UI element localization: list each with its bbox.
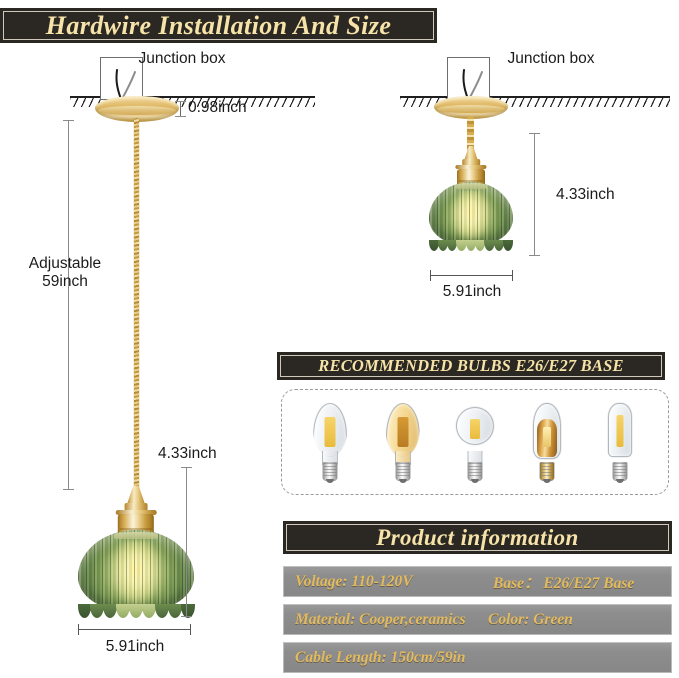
bulb-base-tip — [616, 479, 624, 483]
spec-color: Color: Green — [488, 611, 573, 629]
shade-top-cap — [455, 183, 487, 189]
adjustable-length-label: Adjustable 59inch — [10, 255, 120, 291]
shade-scalloped-edge — [78, 604, 194, 619]
left-lamp-width-label: 5.91inch — [80, 638, 190, 656]
spec-row-material-color: Material: Cooper,ceramics Color: Green — [283, 604, 672, 635]
bulb-base-tip — [471, 479, 479, 483]
right-lamp-width-dimension-line — [430, 275, 513, 276]
socket-cone — [127, 486, 145, 504]
right-lamp-height-dimension-line — [534, 133, 535, 256]
right-lamp-height-label: 4.33inch — [556, 186, 615, 204]
bulb-filament — [470, 419, 480, 439]
wires-icon — [448, 58, 489, 99]
canopy-lip — [437, 105, 505, 113]
spec-base: Base： E26/E27 Base — [493, 571, 634, 593]
bulb-filament — [543, 427, 551, 447]
left-lamp-height-label: 4.33inch — [158, 445, 217, 463]
spec-material: Material: Cooper,ceramics — [295, 611, 466, 629]
junction-box-label-left: Junction box — [136, 50, 228, 67]
bulbs-title-text: RECOMMENDED BULBS E26/E27 BASE — [318, 356, 623, 376]
product-info-title-banner: Product information — [283, 521, 672, 554]
right-lamp-width-label: 5.91inch — [418, 283, 526, 301]
junction-box-label-right: Junction box — [505, 50, 597, 67]
adjustable-dimension-line — [68, 120, 69, 490]
bulb-base-tip — [543, 479, 551, 483]
bulb-list — [282, 390, 668, 494]
infographic-canvas: Hardwire Installation And Size Junction … — [0, 0, 679, 678]
spec-cable-length: Cable Length: 150cm/59in — [295, 649, 466, 667]
main-title-banner: Hardwire Installation And Size — [0, 8, 437, 43]
bulb-filament — [616, 415, 623, 447]
bulbs-title-banner: RECOMMENDED BULBS E26/E27 BASE — [277, 352, 665, 380]
gold-tipped-candle-bulb-icon — [521, 401, 573, 483]
cable-left — [134, 118, 139, 490]
st64-clear-bulb-icon — [304, 401, 356, 483]
shade-ribs — [78, 530, 194, 611]
shade-dome — [78, 530, 194, 611]
shade-scalloped-edge — [429, 240, 513, 252]
left-lamp-width-dimension-line — [78, 629, 191, 630]
glass-shade-right — [429, 182, 513, 254]
main-title-text: Hardwire Installation And Size — [46, 11, 392, 41]
shade-ribs — [429, 182, 513, 245]
glass-shade-left — [78, 530, 194, 622]
bulb-base-tip — [399, 479, 407, 483]
t-tube-bulb-icon — [594, 401, 646, 483]
shade-dome — [429, 182, 513, 245]
recommended-bulbs-box — [281, 389, 669, 495]
junction-box-right — [447, 57, 490, 100]
spec-voltage: Voltage: 110-120V — [295, 573, 413, 591]
canopy-height-dimension-line — [180, 101, 181, 117]
g25-globe-bulb-icon — [449, 401, 501, 483]
left-lamp-height-dimension-line — [186, 467, 187, 617]
bulb-filament — [325, 417, 336, 447]
product-info-title-text: Product information — [376, 525, 579, 551]
st64-amber-bulb-icon — [377, 401, 429, 483]
spec-row-voltage-base: Voltage: 110-120V Base： E26/E27 Base — [283, 566, 672, 597]
shade-top-cap — [114, 532, 158, 539]
bulb-base-tip — [326, 479, 334, 483]
canopy-height-label: 0.98inch — [188, 99, 247, 117]
spec-row-cable-length: Cable Length: 150cm/59in — [283, 642, 672, 673]
bulb-filament — [397, 417, 408, 447]
socket-cone — [464, 146, 478, 160]
